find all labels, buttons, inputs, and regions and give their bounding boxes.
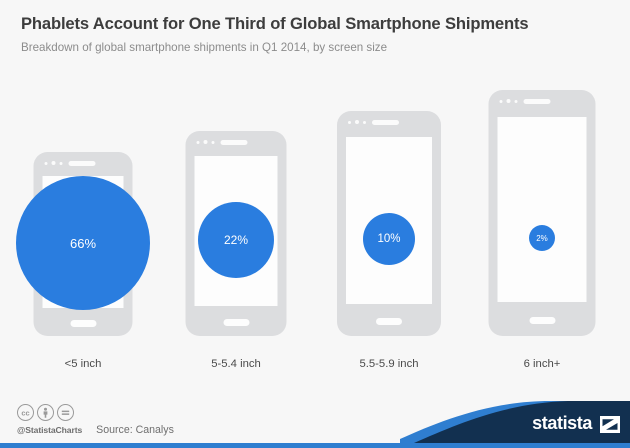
earpiece-speaker-icon	[69, 161, 96, 166]
category-label-3: 6 inch+	[463, 358, 621, 370]
value-bubble-label-2: 10%	[377, 233, 400, 245]
category-group-1: 22% 5-5.4 inch	[157, 80, 315, 380]
category-label-1: 5-5.4 inch	[157, 358, 315, 370]
category-group-0: 66% <5 inch	[4, 80, 162, 380]
no-derivatives-equals-icon	[57, 404, 74, 421]
statista-logo-background	[400, 401, 630, 443]
statista-flag-icon	[600, 416, 620, 433]
sensor-dot-icon	[515, 100, 518, 103]
infographic-canvas: Phablets Account for One Third of Global…	[0, 0, 630, 448]
category-label-2: 5.5-5.9 inch	[310, 358, 468, 370]
phone-home-button-2	[376, 318, 402, 325]
earpiece-speaker-icon	[372, 120, 399, 125]
phone-screen-3	[498, 117, 587, 302]
phone-bezel-top-1	[197, 140, 248, 145]
phone-bezel-top-2	[348, 120, 399, 125]
page-title: Phablets Account for One Third of Global…	[21, 14, 612, 34]
sensor-dot-icon	[363, 121, 366, 124]
header: Phablets Account for One Third of Global…	[21, 14, 612, 55]
phone-home-button-3	[529, 317, 555, 324]
page-subtitle: Breakdown of global smartphone shipments…	[21, 41, 612, 55]
phone-illustration-3	[489, 90, 596, 336]
credit-row: @StatistaCharts Source: Canalys	[17, 424, 174, 436]
value-bubble-1: 22%	[198, 202, 274, 278]
bottom-accent-bar	[0, 443, 630, 448]
phone-home-button-0	[70, 320, 96, 327]
svg-text:cc: cc	[21, 408, 29, 417]
earpiece-speaker-icon	[221, 140, 248, 145]
camera-dot-icon	[355, 120, 359, 124]
category-group-3: 2% 6 inch+	[463, 80, 621, 380]
phone-home-button-1	[223, 319, 249, 326]
sensor-dot-icon	[60, 162, 63, 165]
camera-dot-icon	[507, 99, 511, 103]
value-bubble-2: 10%	[363, 213, 415, 265]
sensor-dot-icon	[45, 162, 48, 165]
phone-bezel-top-3	[500, 99, 551, 104]
attribution-person-icon	[37, 404, 54, 421]
value-bubble-3: 2%	[529, 225, 555, 251]
camera-dot-icon	[204, 140, 208, 144]
category-label-0: <5 inch	[4, 358, 162, 370]
sensor-dot-icon	[212, 141, 215, 144]
sensor-dot-icon	[197, 141, 200, 144]
sensor-dot-icon	[500, 100, 503, 103]
source-label: Source: Canalys	[96, 424, 174, 436]
statista-wordmark: statista	[532, 413, 592, 434]
value-bubble-label-0: 66%	[70, 236, 96, 251]
footer: cc @StatistaCharts Source: Canalys	[0, 396, 630, 448]
value-bubble-label-1: 22%	[224, 233, 248, 247]
value-bubble-0: 66%	[16, 176, 150, 310]
phone-bezel-top-0	[45, 161, 96, 166]
category-group-2: 10% 5.5-5.9 inch	[310, 80, 468, 380]
earpiece-speaker-icon	[524, 99, 551, 104]
statista-handle: @StatistaCharts	[17, 425, 82, 435]
sensor-dot-icon	[348, 121, 351, 124]
creative-commons-license-group: cc	[17, 404, 74, 421]
statista-logo[interactable]: statista	[400, 401, 630, 443]
creative-commons-icon: cc	[17, 404, 34, 421]
chart-pictogram: 66% <5 inch 22% 5-5.4 inch	[0, 80, 630, 380]
value-bubble-label-3: 2%	[536, 234, 548, 243]
camera-dot-icon	[52, 161, 56, 165]
